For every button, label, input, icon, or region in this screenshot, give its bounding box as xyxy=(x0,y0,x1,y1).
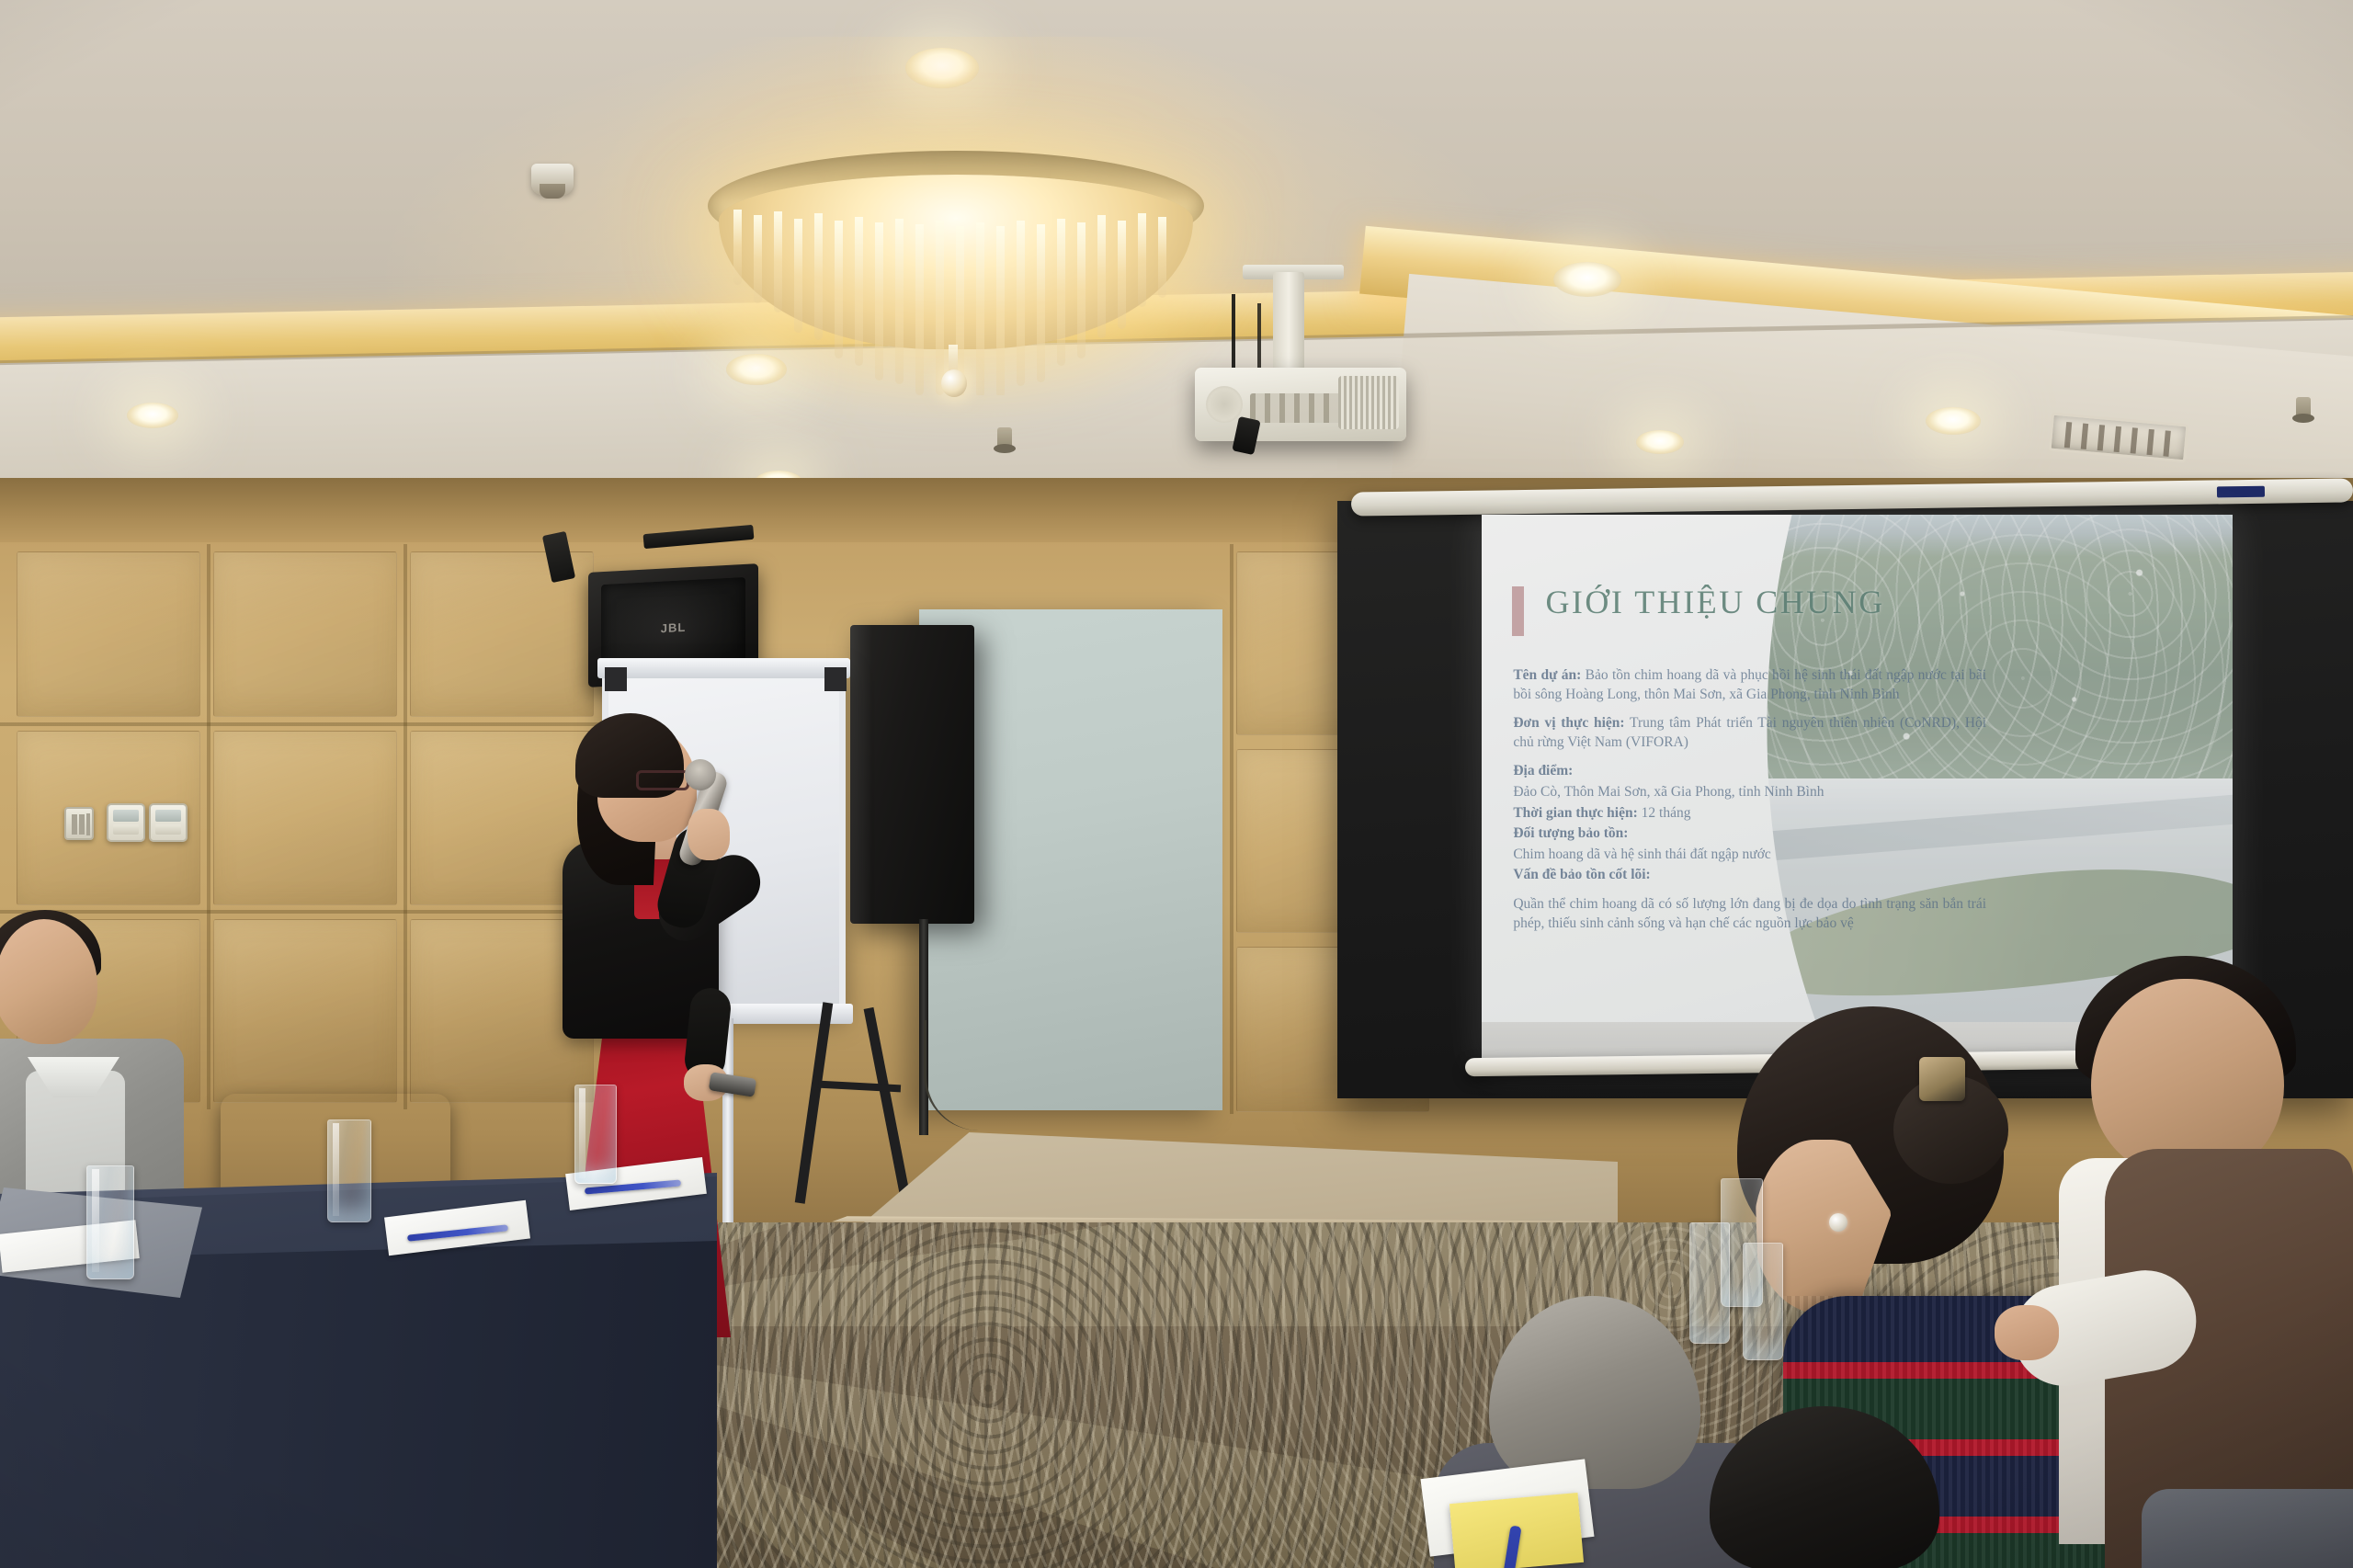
water-glass[interactable] xyxy=(1689,1222,1730,1344)
man-hand xyxy=(1995,1305,2059,1360)
slide-label: Thời gian thực hiện: xyxy=(1513,805,1637,821)
downlight-icon xyxy=(1553,262,1621,297)
slide-label: Tên dự án: xyxy=(1513,667,1581,683)
man-trousers xyxy=(2142,1489,2353,1568)
slide-paragraph: Thời gian thực hiện: 12 tháng xyxy=(1513,804,1986,824)
wall-panel xyxy=(213,919,397,1103)
slide-label: Đối tượng bảo tồn: xyxy=(1513,825,1628,841)
water-glass[interactable] xyxy=(86,1165,134,1279)
wall-panel xyxy=(213,731,397,905)
slide-text: 12 tháng xyxy=(1638,805,1691,821)
downlight-icon xyxy=(1636,430,1684,454)
slide-paragraph: Đảo Cò, Thôn Mai Sơn, xã Gia Phong, tỉnh… xyxy=(1513,783,1986,802)
wall-seam xyxy=(207,544,210,1109)
slide-label: Địa điểm: xyxy=(1513,763,1573,778)
table-cloth-drape xyxy=(0,1241,717,1568)
downlight-icon xyxy=(1926,407,1981,435)
presenter-eyeglasses xyxy=(636,770,689,790)
projector-vent-grille xyxy=(1338,376,1399,429)
slide-paragraph: Quần thể chim hoang dã có số lượng lớn đ… xyxy=(1513,895,1986,933)
slide-title: GIỚI THIỆU CHUNG xyxy=(1545,583,1884,621)
water-glass[interactable] xyxy=(1743,1243,1783,1360)
slide-paragraph: Đơn vị thực hiện: Trung tâm Phát triển T… xyxy=(1513,714,1986,752)
slide-paragraph: Vấn đề bảo tồn cốt lõi: xyxy=(1513,866,1986,885)
wall-seam xyxy=(1230,544,1233,1114)
slide-text: Bảo tồn chim hoang dã và phục hồi hệ sin… xyxy=(1513,667,1986,702)
slide-body-text: Tên dự án: Bảo tồn chim hoang dã và phục… xyxy=(1513,666,1986,943)
pearl-earring xyxy=(1829,1213,1847,1232)
projector-port-panel xyxy=(1250,393,1351,423)
flipchart-corner-clip xyxy=(824,667,847,691)
hair-clip xyxy=(1919,1057,1965,1101)
jbl-logo: JBL xyxy=(661,620,687,635)
smoke-detector-icon xyxy=(531,164,574,195)
crystal-chandelier xyxy=(699,138,1213,441)
wall-seam xyxy=(0,910,616,914)
slide-paragraph: Chim hoang dã và hệ sinh thái đất ngập n… xyxy=(1513,846,1986,865)
ceiling-projector xyxy=(1195,368,1406,441)
water-glass[interactable] xyxy=(327,1119,371,1222)
slide-text: Đảo Cò, Thôn Mai Sơn, xã Gia Phong, tỉnh… xyxy=(1513,784,1824,800)
slide-text: Quần thể chim hoang dã có số lượng lớn đ… xyxy=(1513,896,1986,931)
ceiling xyxy=(0,0,2353,515)
wall-seam xyxy=(404,544,407,1109)
slide-paragraph: Tên dự án: Bảo tồn chim hoang dã và phục… xyxy=(1513,666,1986,704)
flipchart-top-rail xyxy=(597,658,850,678)
wall-panel xyxy=(17,551,200,717)
flipchart-corner-clip xyxy=(605,667,627,691)
slide-text: Chim hoang dã và hệ sinh thái đất ngập n… xyxy=(1513,846,1770,862)
projector-speaker-grille xyxy=(1206,386,1243,423)
wall-seam xyxy=(0,722,616,726)
chandelier-crystal-drop xyxy=(941,369,967,397)
slide-paragraph: Đối tượng bảo tồn: xyxy=(1513,824,1986,844)
roller-brand-label xyxy=(2217,486,2265,498)
slide-title-accent-bar xyxy=(1512,586,1524,636)
wall-panel xyxy=(213,551,397,717)
slide-paragraph: Địa điểm: xyxy=(1513,762,1986,781)
presentation-room-photo: JBL GIỚI THIỆU CHUNG Tên dự án: Bảo tồn … xyxy=(0,0,2353,1568)
thermostat-panel[interactable] xyxy=(149,803,188,842)
downlight-icon xyxy=(127,403,178,428)
column-loudspeaker xyxy=(850,625,974,924)
slide-label: Đơn vị thực hiện: xyxy=(1513,715,1624,731)
water-glass[interactable] xyxy=(574,1085,617,1184)
thermostat-panel[interactable] xyxy=(107,803,145,842)
slide-label: Vấn đề bảo tồn cốt lõi: xyxy=(1513,867,1650,882)
light-switch-plate[interactable] xyxy=(64,807,94,840)
man-head xyxy=(2091,979,2284,1176)
presenter-hand-holding-microphone xyxy=(688,809,730,860)
sprinkler-head-icon xyxy=(2296,397,2311,421)
